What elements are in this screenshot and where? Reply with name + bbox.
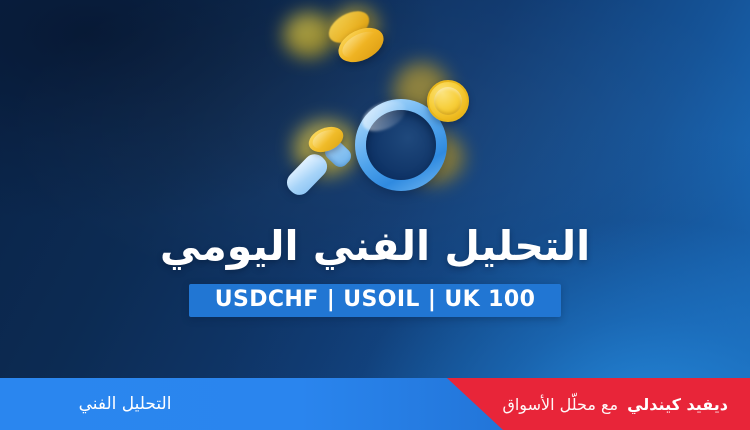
- presenter-label: مع محلّل الأسواق: [502, 395, 618, 414]
- promo-banner: التحليل الفني اليومي USDCHF | USOIL | UK…: [0, 0, 750, 430]
- magnifier-coins-illustration: [275, 0, 500, 215]
- presenter-credit: ديفيد كيندلي مع محلّل الأسواق: [502, 378, 728, 430]
- gold-coin-icon: [427, 80, 469, 122]
- status-badge: USDCHF | USOIL | UK 100: [189, 284, 562, 317]
- footer-bar: ديفيد كيندلي مع محلّل الأسواق التحليل ال…: [0, 378, 750, 430]
- section-tag: التحليل الفني: [0, 378, 250, 430]
- page-title: التحليل الفني اليومي: [0, 222, 750, 270]
- presenter-name: ديفيد كيندلي: [627, 395, 728, 414]
- symbols-badge-row: USDCHF | USOIL | UK 100: [0, 284, 750, 317]
- coin-glow-icon: [283, 12, 335, 58]
